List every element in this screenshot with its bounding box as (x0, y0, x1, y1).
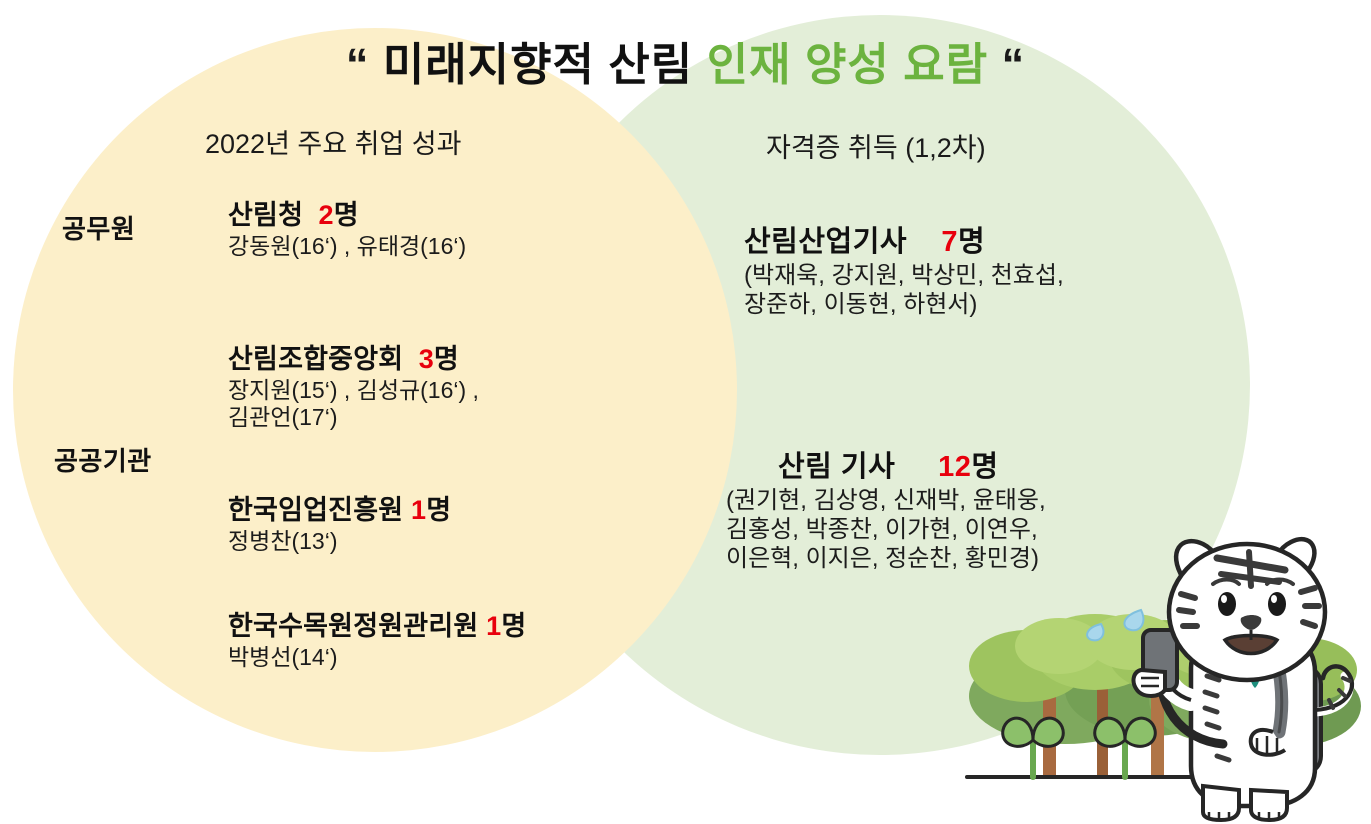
certification-section-heading: 자격증 취득 (1,2차) (766, 126, 986, 165)
employment-entry-korea-arboretum-garden: 한국수목원정원관리원 1명 박병선(14‘) (228, 604, 526, 671)
mascot-illustration (955, 500, 1371, 824)
cert-count: 12 (938, 451, 971, 483)
title-close-quote: “ (988, 39, 1025, 90)
entry-org-name: 한국임업진흥원 (228, 495, 403, 525)
employment-entry-forest-service: 산림청 2명 강동원(16‘) , 유태경(16‘) (228, 193, 466, 260)
cert-title: 산림 기사 12명 (726, 443, 1046, 485)
tiger-head (1169, 539, 1325, 680)
entry-unit: 명 (434, 344, 459, 374)
entry-org-name: 산림청 (228, 200, 303, 230)
cert-names: (박재욱, 강지원, 박상민, 천효섭, 장준하, 이동현, 하현서) (744, 262, 1064, 320)
entry-title: 한국임업진흥원 1명 (228, 488, 451, 527)
entry-names: 박병선(14‘) (228, 644, 526, 671)
entry-count: 3 (419, 344, 434, 374)
cert-name: 산림산업기사 (744, 226, 907, 258)
category-label-public-servant: 공무원 (62, 209, 135, 246)
entry-unit: 명 (334, 200, 359, 230)
entry-names: 장지원(15‘) , 김성규(16‘) , 김관언(17‘) (228, 377, 479, 431)
title-green-text: 인재 양성 요람 (707, 39, 988, 90)
employment-section-heading: 2022년 주요 취업 성과 (205, 122, 461, 161)
employment-entry-korea-forestry-promotion: 한국임업진흥원 1명 정병찬(13‘) (228, 488, 451, 555)
entry-org-name: 한국수목원정원관리원 (228, 611, 478, 641)
entry-title: 산림조합중앙회 3명 (228, 337, 479, 376)
page-title: “ 미래지향적 산림 인재 양성 요람 “ (0, 28, 1371, 93)
entry-title: 한국수목원정원관리원 1명 (228, 604, 526, 643)
infographic-canvas: “ 미래지향적 산림 인재 양성 요람 “ 2022년 주요 취업 성과 공무원… (0, 0, 1371, 824)
cert-name: 산림 기사 (778, 451, 895, 483)
employment-entry-forestry-cooperative: 산림조합중앙회 3명 장지원(15‘) , 김성규(16‘) , 김관언(17‘… (228, 337, 479, 431)
entry-names: 강동원(16‘) , 유태경(16‘) (228, 233, 466, 260)
title-dark-text: 미래지향적 산림 (369, 39, 706, 90)
cert-title: 산림산업기사 7명 (744, 218, 1064, 260)
entry-org-name: 산림조합중앙회 (228, 344, 403, 374)
entry-unit: 명 (501, 611, 526, 641)
title-open-quote: “ (346, 39, 370, 90)
cert-unit: 명 (971, 451, 998, 483)
entry-unit: 명 (426, 495, 451, 525)
entry-title: 산림청 2명 (228, 193, 466, 232)
entry-count: 2 (319, 200, 334, 230)
certification-entry-forest-industry-engineer: 산림산업기사 7명 (박재욱, 강지원, 박상민, 천효섭, 장준하, 이동현,… (744, 218, 1064, 320)
cert-unit: 명 (958, 226, 985, 258)
entry-names: 정병찬(13‘) (228, 528, 451, 555)
cert-count: 7 (941, 226, 958, 258)
entry-count: 1 (486, 611, 501, 641)
entry-count: 1 (411, 495, 426, 525)
category-label-public-institution: 공공기관 (54, 441, 152, 478)
